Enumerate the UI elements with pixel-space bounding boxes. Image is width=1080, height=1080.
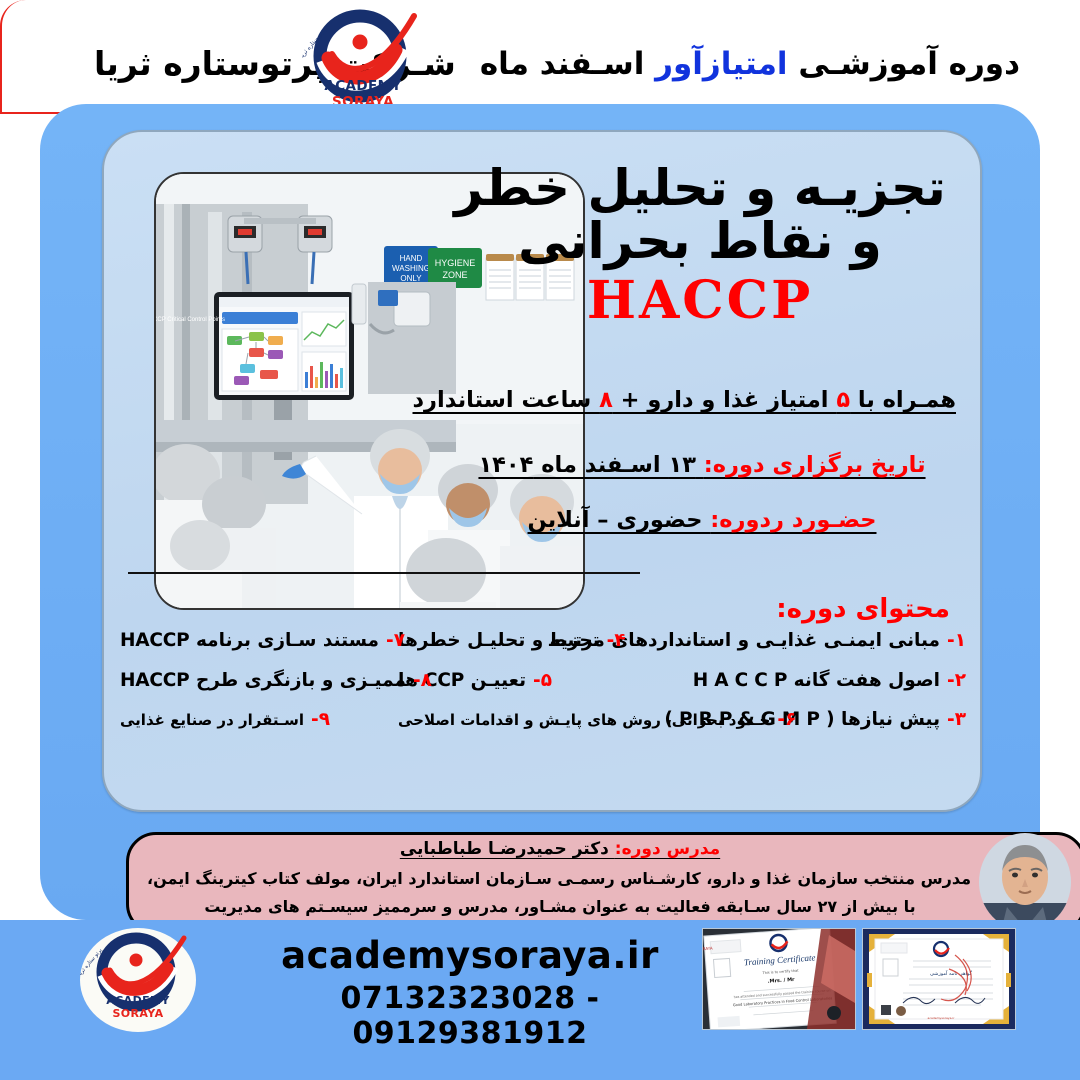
main-card: HACCP Critical Control Points	[40, 104, 1040, 920]
certificate-photo-persian: گواهی نامه آموزشی academysoraya.ir	[863, 929, 1015, 1029]
course-title-acronym: HACCP	[440, 270, 960, 331]
item-text: اسـتقرار در صنایع غذایی	[120, 713, 304, 728]
instructor-label: مدرس دوره:	[615, 839, 720, 859]
content-panel: HACCP Critical Control Points	[102, 130, 982, 812]
list-item: ۷- مستند سـازی برنامه HACCP	[120, 632, 406, 651]
course-title-line-2: و نقاط بحرانی	[440, 215, 960, 268]
item-text: حـدود بحرانی، روش های پایـش و اقدامات اص…	[398, 713, 770, 728]
website-url[interactable]: academysoraya.ir	[240, 934, 700, 977]
hours-middle: امتیاز غذا و دارو +	[613, 387, 837, 413]
item-number: ۸-	[413, 672, 432, 691]
list-item: ۸- ممیـزی و بازنگری طرح HACCP	[120, 672, 406, 691]
poster-root: دوره آموزشـی امتیازآور اسـفند ماه شـرکت …	[0, 0, 1080, 1080]
hours-count: ۸	[599, 387, 613, 413]
svg-text:WASHING: WASHING	[392, 264, 430, 273]
hours-suffix: ساعت استاندارد	[413, 387, 600, 413]
instructor-details: مدرس دوره: دکتر حمیدرضـا طباطبایی مدرس م…	[149, 839, 971, 921]
mode-label: حضـورد ردوره:	[710, 507, 876, 533]
credit-count: ۵	[836, 387, 850, 413]
instructor-credentials-line-1: مدرس منتخب سازمان غذا و دارو، کارشـناس ر…	[149, 865, 971, 893]
content-list: ۱- مبانی ایمنـی غذایـی و استانداردهای مر…	[120, 632, 966, 762]
certificate-sample-1: ACADEMY SORAYA Training Certificate This…	[702, 928, 856, 1030]
logo-word-academy: ACADEMY	[324, 78, 401, 94]
poster-header: دوره آموزشـی امتیازآور اسـفند ماه شـرکت …	[0, 0, 1080, 112]
item-number: ۵-	[533, 672, 552, 691]
instructor-name: دکتر حمیدرضـا طباطبایی	[400, 839, 615, 859]
content-heading: محتوای دوره:	[776, 594, 950, 624]
list-item: ۲- اصول هفت گانه H A C C P	[648, 672, 966, 691]
list-item: ۹- اسـتقرار در صنایع غذایی	[120, 711, 406, 730]
instructor-box: مدرس دوره: دکتر حمیدرضـا طباطبایی مدرس م…	[126, 832, 1080, 934]
course-title-line-1: تجزیـه و تحلیل خطر	[440, 162, 960, 215]
item-number: ۴-	[607, 632, 626, 651]
item-number: ۲-	[947, 672, 966, 691]
item-text: تجزیه و تحلیـل خطرها	[398, 632, 600, 651]
header-campaign-suffix: اسـفند ماه	[480, 46, 655, 82]
svg-text:academysoraya.ir: academysoraya.ir	[928, 1016, 956, 1020]
content-column-left: ۷- مستند سـازی برنامه HACCP ۸- ممیـزی و …	[120, 632, 406, 751]
item-text: اصول هفت گانه H A C C P	[693, 672, 940, 691]
item-number: ۹-	[311, 711, 330, 730]
avatar	[979, 833, 1071, 931]
credit-hours-line: همـراه با ۵ امتیاز غذا و دارو + ۸ ساعت ا…	[448, 387, 956, 413]
course-mode-line: حضـورد ردوره: حضوری – آنلاین	[448, 507, 956, 533]
item-number: ۷-	[386, 632, 405, 651]
phone-numbers[interactable]: 07132323028 - 09129381912	[240, 981, 700, 1051]
svg-text:ONLY: ONLY	[400, 274, 422, 283]
svg-text:HAND: HAND	[400, 254, 423, 263]
svg-text:HACCP Critical Control Points: HACCP Critical Control Points	[156, 317, 225, 323]
instructor-name-line: مدرس دوره: دکتر حمیدرضـا طباطبایی	[149, 839, 971, 859]
course-date-line: تاریخ برگزاری دوره: ۱۳ اسـفند ماه ۱۴۰۴	[448, 452, 956, 478]
logo-word-soraya: SORAYA	[112, 1007, 163, 1020]
section-divider	[128, 572, 640, 574]
list-item: ۵- تعییـن CCP ها	[398, 672, 666, 691]
list-item: ۴- تجزیه و تحلیـل خطرها	[398, 632, 666, 651]
instructor-credentials-line-2: با بیش از ۲۷ سال سـابقه فعالیت به عنوان …	[149, 893, 971, 921]
footer-logo-wordmark: ACADEMY SORAYA	[80, 994, 196, 1020]
header-campaign-prefix: دوره آموزشـی	[788, 46, 1020, 82]
instructor-avatar	[979, 833, 1071, 931]
poster-footer: پرتو ستاره ثریا ACADEMY SORAYA academyso…	[0, 920, 1080, 1080]
hours-prefix: همـراه با	[850, 387, 956, 413]
mode-value: حضوری – آنلاین	[528, 507, 711, 533]
certificate-photo-english: ACADEMY SORAYA Training Certificate This…	[703, 929, 855, 1029]
date-label: تاریخ برگزاری دوره:	[704, 452, 926, 478]
footer-contact: academysoraya.ir 07132323028 - 091293819…	[240, 934, 700, 1051]
certificate-sample-2: گواهی نامه آموزشی academysoraya.ir	[862, 928, 1016, 1030]
content-column-right: ۱- مبانی ایمنـی غذایـی و استانداردهای مر…	[648, 632, 966, 751]
item-text: مستند سـازی برنامه HACCP	[120, 632, 379, 651]
header-campaign-accent: امتیازآور	[655, 46, 787, 82]
academy-soraya-logo: پرتو ستاره ثریا ACADEMY SORAYA	[302, 8, 424, 112]
content-column-middle: ۴- تجزیه و تحلیـل خطرها ۵- تعییـن CCP ها…	[398, 632, 666, 751]
item-text: ممیـزی و بازنگری طرح HACCP	[120, 672, 406, 691]
brand-frame: شـرکت پرتوستاره ثریا پرتو ستاره ثریا ACA…	[0, 0, 464, 114]
course-title-block: تجزیـه و تحلیل خطر و نقاط بحرانی HACCP	[440, 162, 960, 331]
item-number: ۳-	[947, 711, 966, 730]
list-item: ۶- حـدود بحرانی، روش های پایـش و اقدامات…	[398, 711, 666, 730]
logo-word-academy: ACADEMY	[106, 994, 169, 1007]
item-number: ۱-	[947, 632, 966, 651]
item-number: ۶-	[777, 711, 796, 730]
header-campaign-text: دوره آموزشـی امتیازآور اسـفند ماه	[480, 46, 1020, 82]
footer-logo: پرتو ستاره ثریا ACADEMY SORAYA	[80, 928, 196, 1032]
list-item: ۱- مبانی ایمنـی غذایـی و استانداردهای مر…	[648, 632, 966, 651]
date-value: ۱۳ اسـفند ماه ۱۴۰۴	[478, 452, 703, 478]
